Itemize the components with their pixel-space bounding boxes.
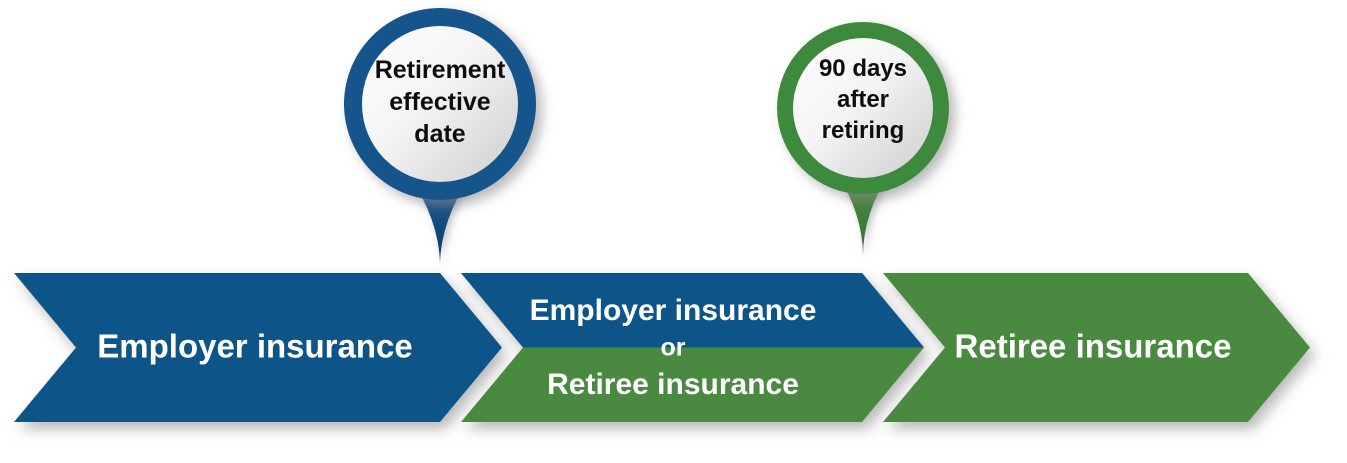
- timeline-diagram: Employer insurance Employer insurance or…: [0, 0, 1347, 463]
- marker-90-days-label-line1: 90 days: [819, 55, 907, 82]
- marker-retirement-label-line1: Retirement: [375, 56, 506, 84]
- segment-middle-label-line2: or: [661, 334, 686, 362]
- timeline-canvas: Employer insurance Employer insurance or…: [0, 0, 1347, 463]
- marker-90-days: 90 days after retiring: [777, 22, 949, 256]
- segment-middle-label-line3: Retiree insurance: [547, 368, 799, 401]
- marker-90-days-label-line3: retiring: [822, 117, 905, 144]
- segment-retiree-label: Retiree insurance: [955, 328, 1232, 365]
- segment-employer-label: Employer insurance: [97, 328, 412, 365]
- segment-middle-label-line1: Employer insurance: [530, 294, 817, 327]
- marker-retirement: Retirement effective date: [344, 8, 536, 266]
- marker-90-days-label-line2: after: [837, 86, 889, 113]
- marker-retirement-label-line3: date: [414, 120, 466, 148]
- marker-retirement-label-line2: effective: [389, 88, 491, 116]
